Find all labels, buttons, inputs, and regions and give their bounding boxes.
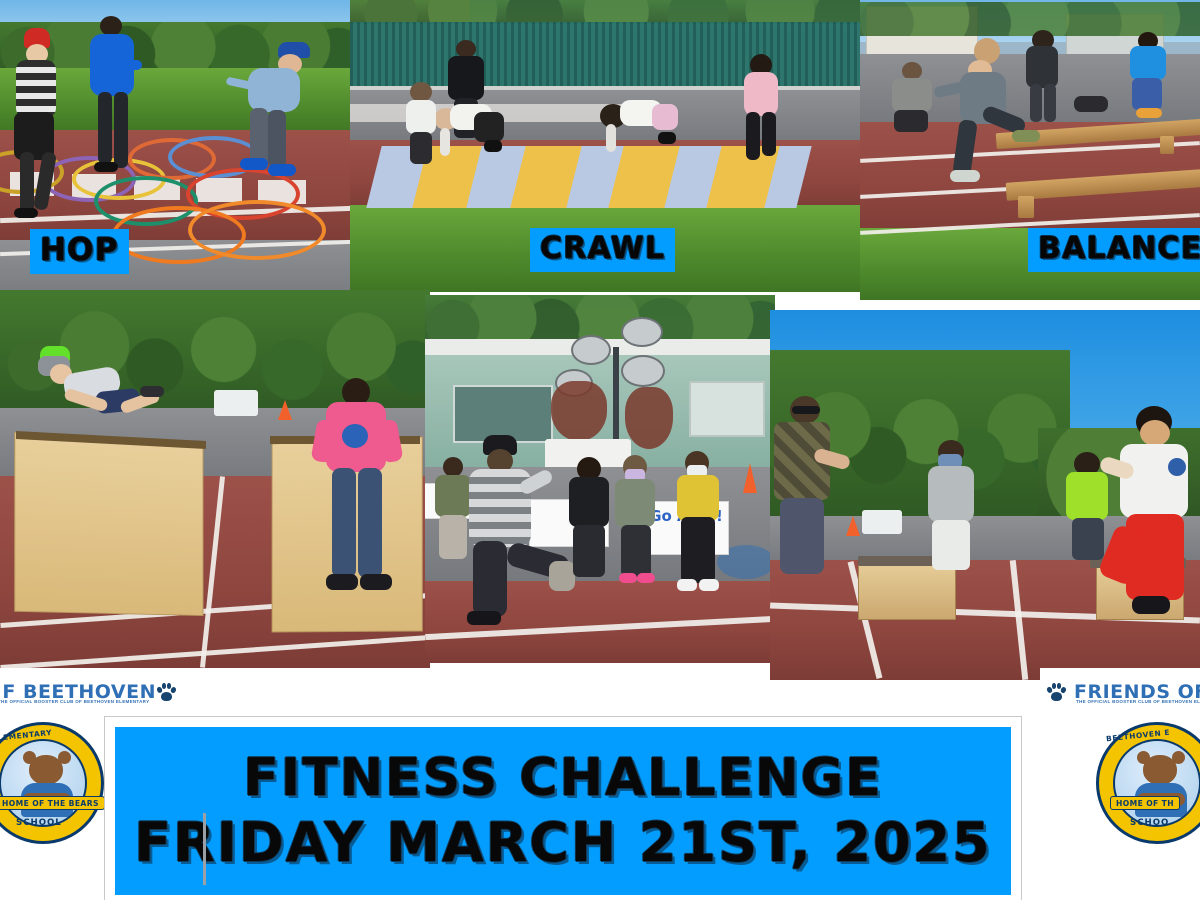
bear-mascot-icon	[1143, 755, 1177, 785]
child-figure	[565, 457, 613, 589]
paw-print-icon	[156, 681, 178, 703]
fitness-challenge-flyer: HOP	[0, 0, 1200, 900]
booster-tagline-right: THE OFFICIAL BOOSTER CLUB OF BEETHOVEN E…	[1076, 699, 1200, 704]
hula-hoop	[188, 200, 326, 260]
child-figure-running	[467, 435, 571, 641]
child-figure-standing	[318, 378, 398, 622]
photo-jump: JUMP	[0, 290, 430, 668]
child-figure	[922, 440, 982, 580]
photo-run: Go Arya!	[425, 295, 775, 663]
photo-havefun: HAVE FUN	[770, 310, 1200, 680]
booster-logo-right: FRIENDS OF B THE OFFICIAL BOOSTER CLUB O…	[1040, 668, 1200, 716]
child-figure	[1020, 30, 1064, 126]
child-figure	[673, 451, 723, 611]
school-seal-right: BEETHOVEN E HOME OF TH SCHOO	[1096, 722, 1200, 844]
child-figure	[14, 28, 68, 208]
child-figure	[402, 82, 442, 164]
child-figure	[434, 96, 504, 162]
banner-title: FITNESS CHALLENGE	[243, 751, 883, 805]
seal-arc-bottom: SCHOOL	[16, 818, 62, 828]
booster-logo-left: F BEETHOVEN THE OFFICIAL BOOSTER CLUB OF…	[0, 668, 186, 716]
seal-inner	[0, 739, 87, 827]
photo-balance: BALANCE	[860, 0, 1200, 300]
photo-label-crawl: CRAWL	[530, 228, 675, 272]
child-figure-jumping	[36, 346, 172, 464]
child-figure	[890, 62, 944, 140]
child-figure	[600, 90, 680, 162]
child-figure	[88, 16, 140, 186]
paw-print-icon	[1046, 681, 1068, 703]
bear-mascot-icon	[29, 755, 63, 785]
text-cursor	[203, 813, 206, 885]
banner-date: FRIDAY MARCH 21ST, 2025	[134, 815, 991, 871]
seal-inner	[1113, 739, 1200, 827]
school-seal-left: ELEMENTARY HOME OF THE BEARS SCHOOL	[0, 722, 104, 844]
child-figure	[234, 40, 314, 190]
photo-crawl: CRAWL	[350, 0, 862, 292]
child-figure	[611, 455, 659, 595]
photo-label-balance: BALANCE	[1028, 228, 1200, 272]
child-figure	[1122, 32, 1178, 124]
adult-figure-cheering	[772, 396, 850, 586]
child-figure	[734, 54, 790, 166]
seal-ribbon: HOME OF TH	[1110, 796, 1180, 810]
event-banner-body: FITNESS CHALLENGE FRIDAY MARCH 21ST, 202…	[115, 727, 1011, 895]
photo-hop: HOP	[0, 0, 352, 305]
child-figure	[1066, 452, 1112, 562]
seal-arc-bottom: SCHOO	[1130, 818, 1169, 828]
photo-label-hop: HOP	[30, 229, 129, 274]
booster-tagline-left: THE OFFICIAL BOOSTER CLUB OF BEETHOVEN E…	[0, 699, 149, 704]
event-banner: FITNESS CHALLENGE FRIDAY MARCH 21ST, 202…	[104, 716, 1022, 900]
seal-ribbon: HOME OF THE BEARS	[0, 796, 105, 810]
